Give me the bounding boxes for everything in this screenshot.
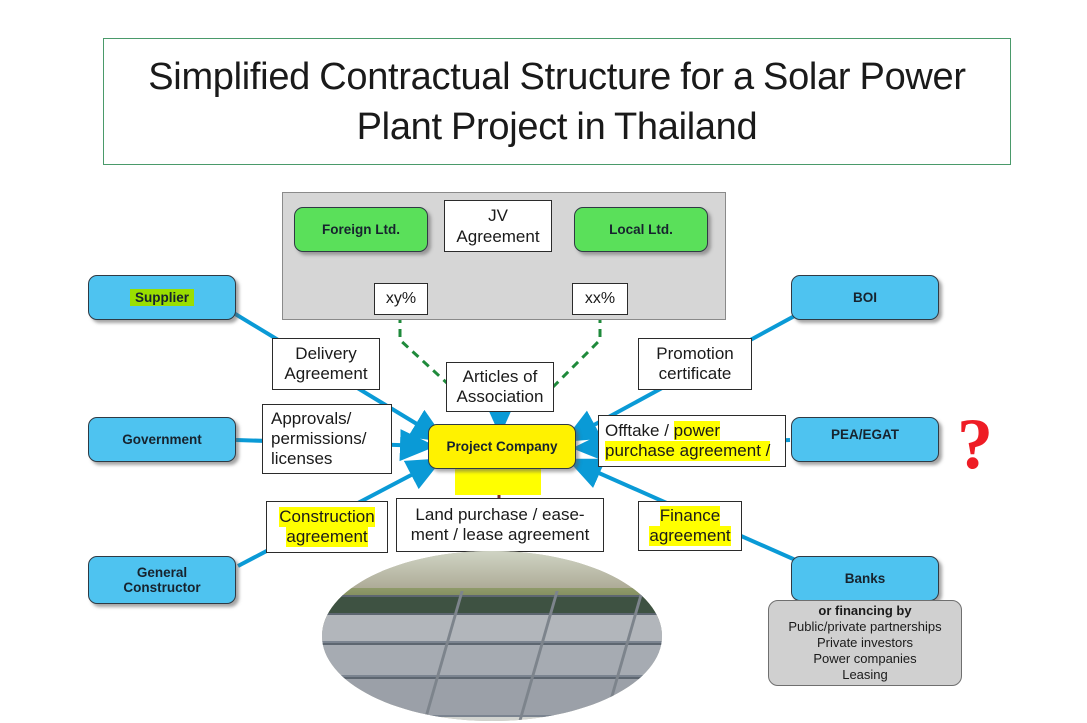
finance-line1: Finance [660,506,720,526]
land-purchase-line1: Land purchase / ease- [415,505,584,525]
general-constructor-label-line1: General [137,565,187,580]
supplier-node[interactable]: Supplier [88,275,236,320]
local-ltd-label: Local Ltd. [609,222,673,237]
foreign-ltd-node[interactable]: Foreign Ltd. [294,207,428,252]
boi-label: BOI [853,290,877,305]
photo-panel-row [322,613,662,643]
question-mark-annotation: ? [950,400,1000,490]
finance-agreement-box: Finance agreement [638,501,742,551]
project-company-node[interactable]: Project Company [428,424,576,469]
share-right-label: xx% [585,289,615,309]
foreign-ltd-label: Foreign Ltd. [322,222,400,237]
promotion-certificate-box: Promotion certificate [638,338,752,390]
local-ltd-node[interactable]: Local Ltd. [574,207,708,252]
government-label: Government [122,432,202,447]
construction-agreement-box: Construction agreement [266,501,388,553]
approvals-line2: permissions/ [271,429,366,449]
pea-egat-node[interactable]: PEA/EGAT [791,417,939,462]
financing-note-line1: or financing by [818,603,911,619]
financing-note-box: or financing by Public/private partnersh… [768,600,962,686]
jv-agreement-label-line1: JV [488,205,508,226]
banks-node[interactable]: Banks [791,556,939,601]
general-constructor-label-line2: Constructor [123,580,200,595]
land-purchase-line2: ment / lease agreement [411,525,590,545]
offtake-line2: purchase agreement / [605,441,770,461]
offtake-line1-part-a: Offtake / [605,421,674,440]
boi-node[interactable]: BOI [791,275,939,320]
financing-note-line4: Power companies [813,651,916,667]
share-left-label: xy% [386,289,416,309]
construction-agreement-line1: Construction [279,507,374,527]
delivery-agreement-line2: Agreement [284,364,367,384]
promotion-line2: certificate [659,364,732,384]
articles-line2: Association [457,387,544,407]
financing-note-line3: Private investors [817,635,913,651]
land-purchase-box: Land purchase / ease- ment / lease agree… [396,498,604,552]
photo-panel-row [322,643,662,677]
finance-line2: agreement [649,526,730,546]
offtake-line1-part-b: power [674,421,720,440]
construction-agreement-line2: agreement [286,527,367,547]
approvals-line1: Approvals/ [271,409,351,429]
financing-note-line5: Leasing [842,667,888,683]
delivery-agreement-box: Delivery Agreement [272,338,380,390]
banks-label: Banks [845,571,886,586]
photo-panel-row [322,595,662,615]
delivery-agreement-line1: Delivery [295,344,356,364]
project-company-label: Project Company [446,439,557,454]
approvals-box: Approvals/ permissions/ licenses [262,404,392,474]
approvals-line3: licenses [271,449,332,469]
slide-canvas: Simplified Contractual Structure for a S… [0,0,1087,723]
share-left-box: xy% [374,283,428,315]
share-right-box: xx% [572,283,628,315]
supplier-label: Supplier [130,289,194,306]
jv-agreement-box: JV Agreement [444,200,552,252]
promotion-line1: Promotion [656,344,733,364]
offtake-agreement-box: Offtake / power purchase agreement / [598,415,786,467]
question-mark-label: ? [957,404,993,484]
jv-agreement-label-line2: Agreement [456,226,539,247]
articles-of-association-box: Articles of Association [446,362,554,412]
general-constructor-node[interactable]: General Constructor [88,556,236,604]
financing-note-line2: Public/private partnerships [788,619,941,635]
offtake-line1: Offtake / power [605,421,720,441]
title-box: Simplified Contractual Structure for a S… [103,38,1011,165]
page-title: Simplified Contractual Structure for a S… [104,52,1010,152]
solar-farm-photo [322,551,662,721]
pea-egat-label: PEA/EGAT [831,427,899,442]
articles-line1: Articles of [463,367,538,387]
government-node[interactable]: Government [88,417,236,462]
